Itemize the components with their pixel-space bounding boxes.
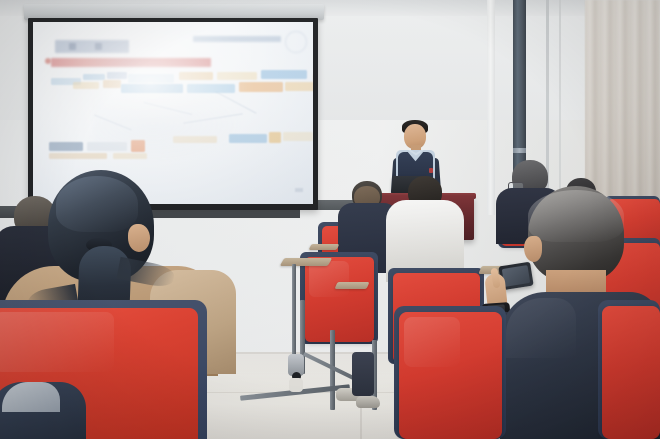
- slide-logo-chip: [283, 132, 313, 141]
- slide-logo-chip: [173, 136, 217, 143]
- slide-header-right: [193, 36, 281, 42]
- slide-logo-chip: [187, 84, 235, 93]
- slide-logo-chip: [121, 84, 183, 93]
- writing-tablet: [280, 258, 333, 266]
- ear: [128, 224, 150, 252]
- seat-highlight: [404, 317, 460, 367]
- lecture-hall-photo: [0, 0, 660, 439]
- slide-logo-chip: [261, 70, 307, 79]
- pole-band: [513, 148, 526, 153]
- slide-organization-seal: [285, 31, 307, 53]
- slide-title-text: [51, 58, 211, 67]
- speaker-lapel-badge: [429, 168, 433, 173]
- slide-logo-chip: [87, 142, 127, 151]
- slide-tab-glyph: [69, 43, 76, 50]
- seat-foot: [289, 378, 303, 392]
- slide-header-tab: [55, 40, 129, 53]
- slide-logo-chip: [229, 134, 267, 143]
- slide-logo-chip: [179, 72, 213, 80]
- slide-logo-chip: [285, 82, 313, 91]
- slide-logo-chip: [73, 82, 99, 89]
- slide-logo-chip: [217, 72, 257, 80]
- slide-logo-chip: [83, 74, 105, 80]
- trouser-leg: [352, 352, 374, 396]
- auditorium-seat[interactable]: [602, 306, 660, 439]
- ear: [524, 236, 542, 262]
- slide-logo-chip: [49, 153, 107, 159]
- hair-highlight: [528, 190, 624, 242]
- shoe: [356, 396, 380, 408]
- wall-seam: [559, 0, 561, 212]
- slide-page-number: [295, 188, 303, 192]
- slide-tab-glyph: [95, 43, 102, 50]
- column-edge: [487, 0, 495, 215]
- slide-logo-chip: [103, 80, 121, 88]
- slide-logo-chip: [107, 72, 127, 79]
- slide-logo-chip: [128, 74, 174, 83]
- seat-highlight: [309, 261, 349, 297]
- slide-logo-chip: [269, 132, 281, 143]
- hair-sheen: [56, 176, 138, 232]
- writing-tablet: [309, 244, 340, 250]
- slide-logo-chip: [113, 153, 147, 159]
- seat-highlight: [0, 312, 114, 372]
- seat-leg: [292, 264, 296, 364]
- slide-logo-chip: [239, 82, 283, 92]
- slide-logo-chip: [49, 142, 83, 151]
- slide-logo-chip: [131, 140, 145, 152]
- body-highlight: [506, 298, 576, 358]
- writing-tablet: [334, 282, 369, 289]
